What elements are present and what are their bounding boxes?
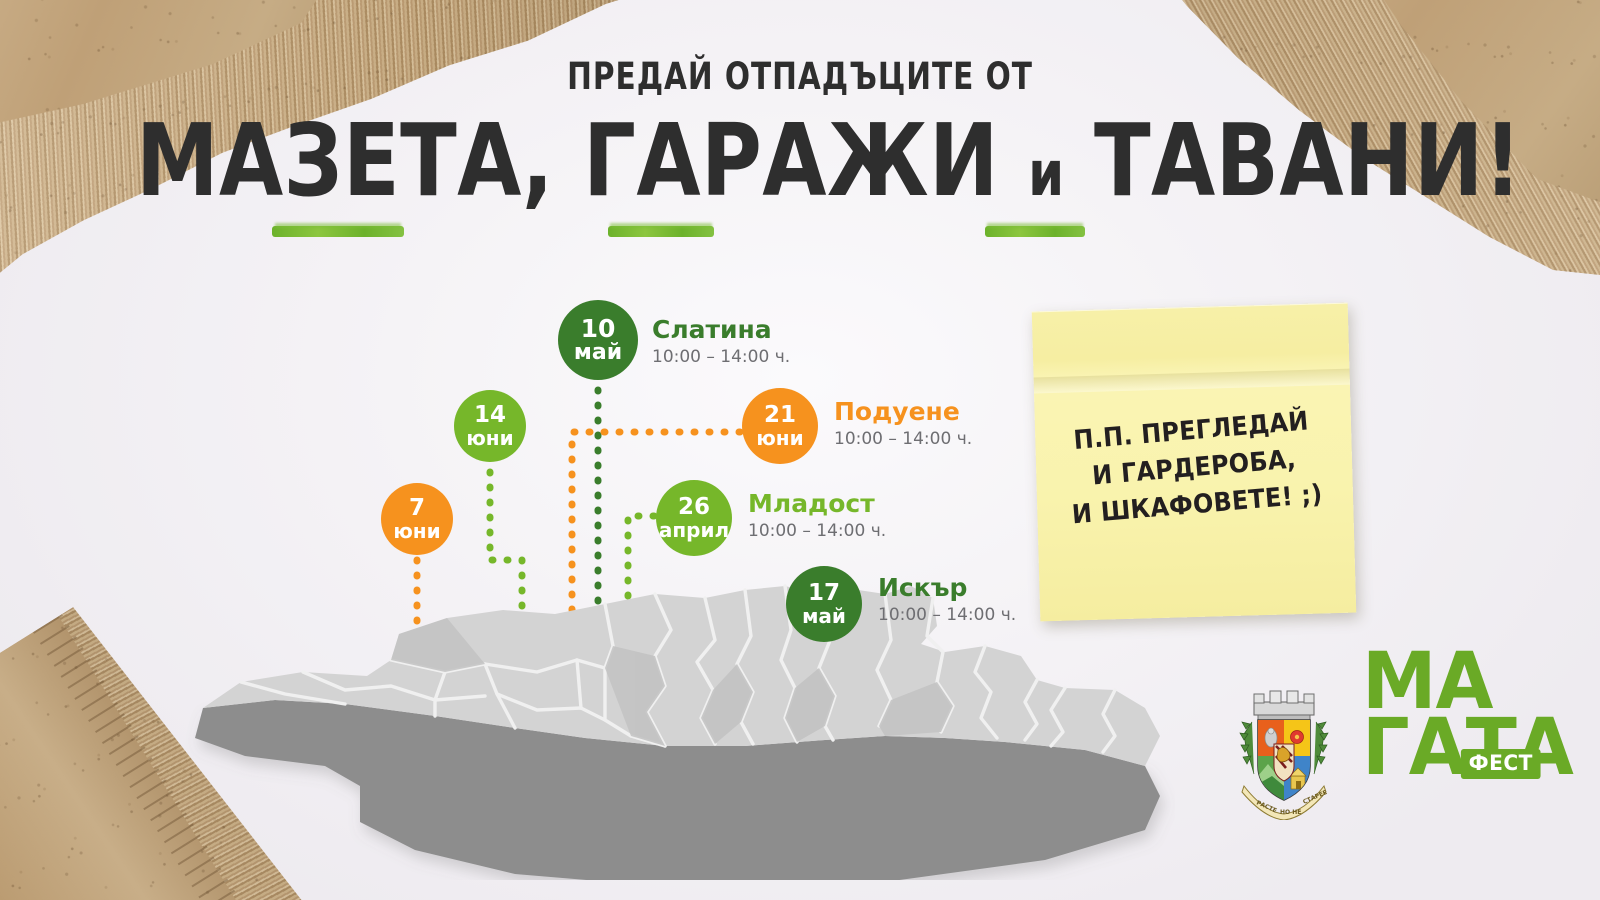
event-date-badge[interactable]: 10 май [558,300,638,380]
headline-main-part1: МАЗЕТА, ГАРАЖИ [136,102,999,219]
event-time: 10:00 – 14:00 ч. [834,430,972,449]
svg-text:НО НЕ: НО НЕ [1280,809,1301,816]
headline-kicker: ПРЕДАЙ ОТПАДЪЦИТЕ ОТ [160,58,1440,95]
event-month: юни [466,428,513,448]
sticky-note-crease [1034,369,1350,394]
event-month: май [574,342,622,364]
headline-block: ПРЕДАЙ ОТПАДЪЦИТЕ ОТ МАЗЕТА, ГАРАЖИ и ТА… [0,58,1600,211]
headline-main-conjunction: и [1028,137,1064,210]
event-date-badge[interactable]: 17 май [786,566,862,642]
event-label: Слатина 10:00 – 14:00 ч. [652,316,790,366]
sticky-note-text: П.П. ПРЕГЛЕДАЙ И ГАРДЕРОБА, И ШКАФОВЕТЕ!… [1045,401,1344,536]
logo-fest-badge: ФЕСТ [1461,749,1541,779]
mural-crown-icon [1254,691,1314,720]
event-day: 21 [764,404,796,427]
event-day: 14 [474,404,506,427]
event-district-name: Подуене [834,398,972,426]
sofia-coat-of-arms: РАСТЕ НО НЕ СТАРЕЕ [1228,688,1340,820]
event-month: юни [756,428,803,448]
coat-of-arms-svg: РАСТЕ НО НЕ СТАРЕЕ [1228,688,1340,820]
underline-stroke-3 [985,226,1085,237]
headline-main-part2: ТАВАНИ! [1094,102,1522,219]
event-month: май [802,606,846,626]
event-time: 10:00 – 14:00 ч. [748,522,886,541]
event-district-name: Слатина [652,316,790,344]
sticky-note: П.П. ПРЕГЛЕДАЙ И ГАРДЕРОБА, И ШКАФОВЕТЕ!… [1032,303,1357,622]
event-label: Подуене 10:00 – 14:00 ч. [834,398,972,448]
heraldic-shield-icon [1258,720,1310,802]
event-date-badge[interactable]: 26 април [656,480,732,556]
event-time: 10:00 – 14:00 ч. [652,348,790,367]
event-date-badge[interactable]: 7 юни [381,483,453,555]
event-day: 26 [678,496,710,519]
event-label: Младост 10:00 – 14:00 ч. [748,490,886,540]
logo-line-2: ГАТА ФЕСТ [1362,716,1516,782]
sofia-municipality-map [185,560,1175,880]
event-day: 10 [581,316,616,342]
poster-canvas: ПРЕДАЙ ОТПАДЪЦИТЕ ОТ МАЗЕТА, ГАРАЖИ и ТА… [0,0,1600,900]
headline-main: МАЗЕТА, ГАРАЖИ и ТАВАНИ! [136,111,1464,211]
event-district-name: Младост [748,490,886,518]
event-label: Искър 10:00 – 14:00 ч. [878,574,1016,624]
underline-stroke-1 [272,226,404,237]
event-month: април [659,520,729,540]
event-date-badge[interactable]: 14 юни [454,390,526,462]
event-month: юни [393,521,440,541]
headline-underline-group [0,222,1600,244]
event-day: 17 [808,582,840,605]
underline-stroke-2 [608,226,714,237]
event-district-name: Искър [878,574,1016,602]
magata-fest-logo: МА ГАТА ФЕСТ [1362,650,1522,835]
event-time: 10:00 – 14:00 ч. [878,606,1016,625]
event-date-badge[interactable]: 21 юни [742,388,818,464]
map-svg [185,560,1175,880]
event-day: 7 [409,497,425,520]
